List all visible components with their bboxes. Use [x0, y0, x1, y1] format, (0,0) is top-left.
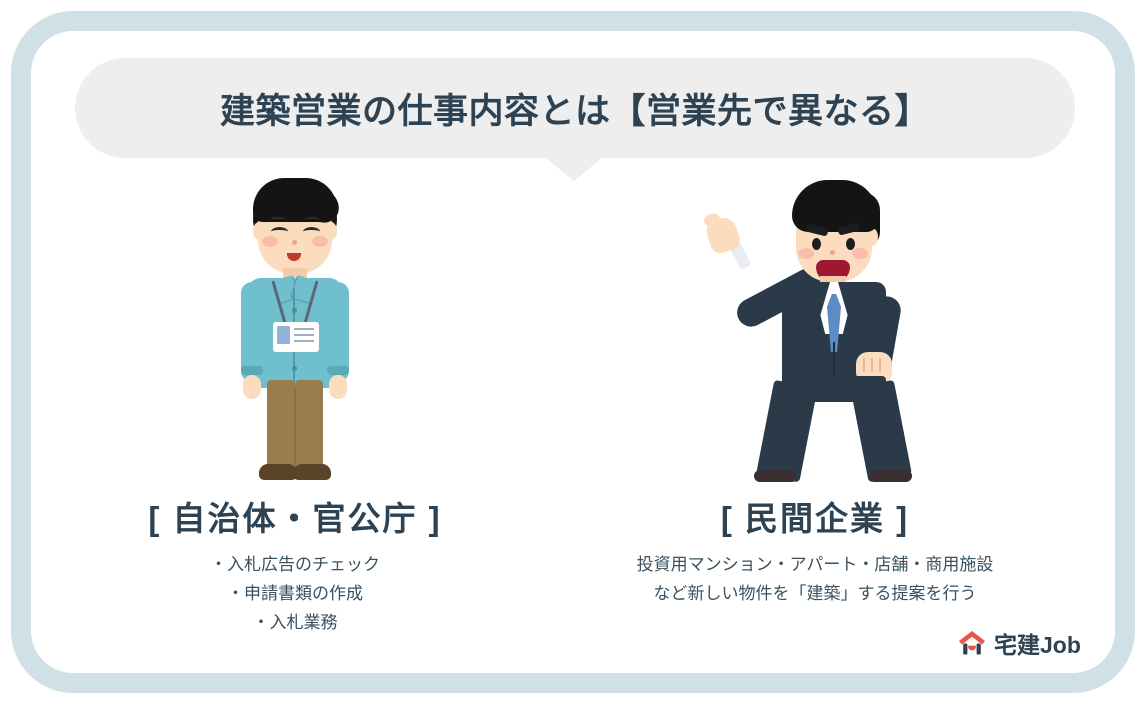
- eye-left-shape: [271, 227, 288, 236]
- hair-top-shape: [792, 180, 878, 232]
- hip-shape: [782, 376, 886, 402]
- cheek-left-shape: [798, 248, 814, 259]
- illustration-office-worker: [60, 170, 530, 490]
- cuff-left-shape: [241, 366, 263, 375]
- nose-shape: [292, 240, 297, 245]
- hand-right-shape: [329, 375, 347, 399]
- businessman-figure: [700, 170, 930, 490]
- eye-left-shape: [812, 238, 821, 250]
- eyebrow-left-shape: [270, 217, 286, 223]
- body-line: ・申請書類の作成: [60, 579, 530, 608]
- id-badge-line-3-shape: [294, 340, 314, 342]
- shoe-left-shape: [259, 464, 297, 480]
- id-badge-photo-shape: [277, 326, 290, 344]
- column-private-company: [ 民間企業 ] 投資用マンション・アパート・店舗・商用施設 など新しい物件を「…: [580, 170, 1050, 640]
- logo-text: 宅建Job: [994, 634, 1081, 657]
- eye-right-shape: [303, 227, 320, 236]
- eye-right-shape: [846, 238, 855, 250]
- knuckle-line-3-shape: [879, 358, 881, 372]
- knuckle-line-2-shape: [871, 358, 873, 372]
- id-badge-line-1-shape: [294, 328, 314, 330]
- cheek-right-shape: [312, 236, 328, 247]
- body-line: ・入札広告のチェック: [60, 550, 530, 579]
- shoe-left-shape: [754, 470, 796, 482]
- illustration-businessman: [580, 170, 1050, 490]
- shoe-right-shape: [293, 464, 331, 480]
- column-heading-private-company: [ 民間企業 ]: [580, 492, 1050, 540]
- body-line: など新しい物件を「建築」する提案を行う: [580, 579, 1050, 608]
- leg-right-shape: [295, 380, 323, 470]
- hand-left-shape: [243, 375, 261, 399]
- house-icon: [958, 630, 986, 661]
- brand-logo[interactable]: 宅建Job: [958, 630, 1081, 661]
- leg-left-shape: [267, 380, 295, 470]
- column-body-government: ・入札広告のチェック ・申請書類の作成 ・入札業務: [60, 550, 530, 637]
- column-government: [ 自治体・官公庁 ] ・入札広告のチェック ・申請書類の作成 ・入札業務: [60, 170, 530, 640]
- eyebrow-right-shape: [304, 217, 320, 223]
- page-title: 建築営業の仕事内容とは【営業先で異なる】: [75, 58, 1075, 158]
- nose-shape: [830, 250, 835, 255]
- infographic-canvas: 建築営業の仕事内容とは【営業先で異なる】: [0, 0, 1146, 704]
- shirt-button-3-shape: [292, 366, 297, 371]
- ear-right-shape: [325, 222, 337, 240]
- cheek-right-shape: [852, 248, 868, 259]
- knuckle-line-1-shape: [863, 358, 865, 372]
- body-line: 投資用マンション・アパート・店舗・商用施設: [580, 550, 1050, 579]
- cuff-right-shape: [327, 366, 349, 375]
- column-body-private-company: 投資用マンション・アパート・店舗・商用施設 など新しい物件を「建築」する提案を行…: [580, 550, 1050, 608]
- trouser-seam-shape: [294, 388, 296, 470]
- shirt-button-1-shape: [292, 308, 297, 313]
- column-heading-government: [ 自治体・官公庁 ]: [60, 492, 530, 540]
- body-line: ・入札業務: [60, 608, 530, 637]
- cheek-left-shape: [262, 236, 278, 247]
- id-badge-line-2-shape: [294, 334, 314, 336]
- office-worker-figure: [215, 170, 375, 490]
- shoe-right-shape: [870, 470, 912, 482]
